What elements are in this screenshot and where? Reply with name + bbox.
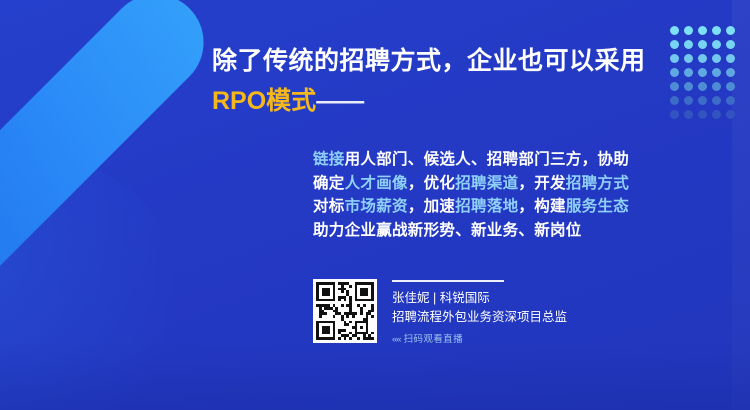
- body-text-run: 确定: [313, 175, 345, 192]
- body-highlight-run: 招聘方式: [566, 175, 629, 192]
- speaker-title: 招聘流程外包业务资深项目总监: [392, 308, 567, 327]
- body-text-run: 用人部门、候选人、招聘部门三方，协助: [345, 151, 629, 168]
- headline-line-2: RPO模式——: [212, 84, 712, 118]
- headline-dash: ——: [316, 87, 362, 115]
- headline-accent-text: RPO模式: [212, 87, 316, 115]
- body-highlight-run: 招聘渠道: [455, 175, 518, 192]
- speaker-divider: [392, 280, 504, 282]
- body-line: 助力企业赢战新形势、新业务、新岗位: [313, 219, 713, 243]
- body-text-run: 对标: [313, 198, 345, 215]
- body-text-run: ，开发: [518, 175, 565, 192]
- body-highlight-run: 招聘落地: [455, 198, 518, 215]
- body-text-run: ，加速: [408, 198, 455, 215]
- body-line: 链接用人部门、候选人、招聘部门三方，协助: [313, 148, 713, 172]
- headline-block: 除了传统的招聘方式，企业也可以采用 RPO模式——: [212, 44, 712, 118]
- chevron-left-icon: ««: [392, 334, 401, 345]
- slide-content: 除了传统的招聘方式，企业也可以采用 RPO模式—— 链接用人部门、候选人、招聘部…: [0, 0, 750, 410]
- body-line: 确定人才画像，优化招聘渠道，开发招聘方式: [313, 172, 713, 196]
- body-highlight-run: 链接: [313, 151, 345, 168]
- scan-cta: ««扫码观看直播: [392, 333, 567, 347]
- qr-code[interactable]: [313, 279, 377, 343]
- speaker-info: 张佳妮 | 科锐国际 招聘流程外包业务资深项目总监 ««扫码观看直播: [392, 279, 567, 347]
- slide-canvas: 除了传统的招聘方式，企业也可以采用 RPO模式—— 链接用人部门、候选人、招聘部…: [0, 0, 750, 410]
- body-text-run: ，优化: [408, 175, 455, 192]
- body-text-run: 助力企业赢战新形势、新业务、新岗位: [313, 222, 582, 239]
- body-highlight-run: 人才画像: [345, 175, 408, 192]
- body-highlight-run: 市场薪资: [345, 198, 408, 215]
- scan-cta-label: 扫码观看直播: [404, 334, 463, 345]
- body-text-block: 链接用人部门、候选人、招聘部门三方，协助确定人才画像，优化招聘渠道，开发招聘方式…: [313, 148, 713, 242]
- speaker-name: 张佳妮 | 科锐国际: [392, 289, 567, 308]
- body-line: 对标市场薪资，加速招聘落地，构建服务生态: [313, 195, 713, 219]
- body-text-run: ，构建: [518, 198, 565, 215]
- headline-line-1: 除了传统的招聘方式，企业也可以采用: [212, 44, 712, 78]
- body-highlight-run: 服务生态: [566, 198, 629, 215]
- speaker-block: 张佳妮 | 科锐国际 招聘流程外包业务资深项目总监 ««扫码观看直播: [313, 279, 567, 347]
